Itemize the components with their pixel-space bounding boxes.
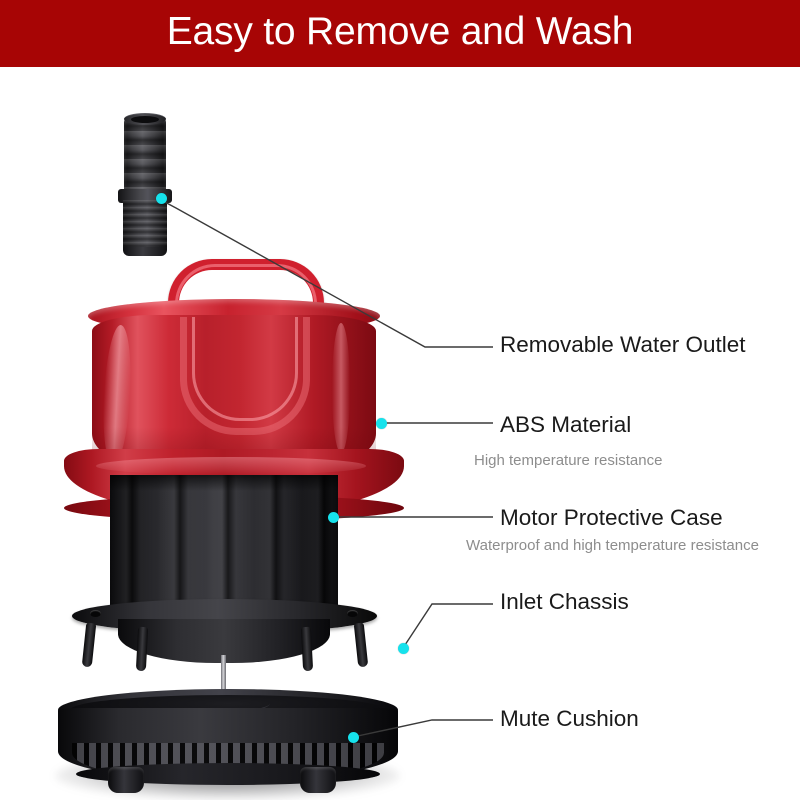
- outlet-thread-foot: [123, 247, 167, 256]
- mute-cushion-foot-left: [108, 767, 144, 793]
- callout-label-abs-material: ABS Material: [500, 412, 631, 438]
- motor-case-top-shadow: [110, 475, 338, 491]
- callout-label-removable-water-outlet: Removable Water Outlet: [500, 332, 746, 358]
- callout-dot-removable-water-outlet[interactable]: [156, 193, 167, 204]
- motor-leg: [82, 623, 97, 668]
- outlet-bore: [131, 116, 159, 123]
- callout-label-motor-protective-case: Motor Protective Case: [500, 505, 723, 531]
- mute-cushion-foot-right: [300, 767, 336, 793]
- callout-dot-mute-cushion[interactable]: [348, 732, 359, 743]
- motor-leg: [354, 623, 369, 668]
- callout-dot-motor-protective-case[interactable]: [328, 512, 339, 523]
- motor-leg: [136, 627, 148, 671]
- callout-label-inlet-chassis: Inlet Chassis: [500, 589, 629, 615]
- outlet-barb-body: [124, 117, 166, 193]
- product-illustration: [0, 67, 800, 800]
- cover-skirt-highlight: [96, 457, 366, 475]
- motor-protective-case: [110, 475, 338, 605]
- infographic-page: Easy to Remove and Wash: [0, 0, 800, 800]
- callout-dot-inlet-chassis[interactable]: [398, 643, 409, 654]
- outlet-thread: [123, 200, 167, 252]
- callout-sublabel-abs-material: High temperature resistance: [474, 452, 662, 469]
- flange-hole-left: [90, 610, 101, 617]
- flange-hole-right: [347, 610, 358, 617]
- callout-label-mute-cushion: Mute Cushion: [500, 706, 639, 732]
- header-banner: Easy to Remove and Wash: [0, 0, 800, 67]
- page-title: Easy to Remove and Wash: [0, 0, 800, 67]
- callout-dot-abs-material[interactable]: [376, 418, 387, 429]
- cover-inner-handle-highlight: [192, 317, 298, 421]
- callout-sublabel-motor-protective-case: Waterproof and high temperature resistan…: [466, 537, 759, 554]
